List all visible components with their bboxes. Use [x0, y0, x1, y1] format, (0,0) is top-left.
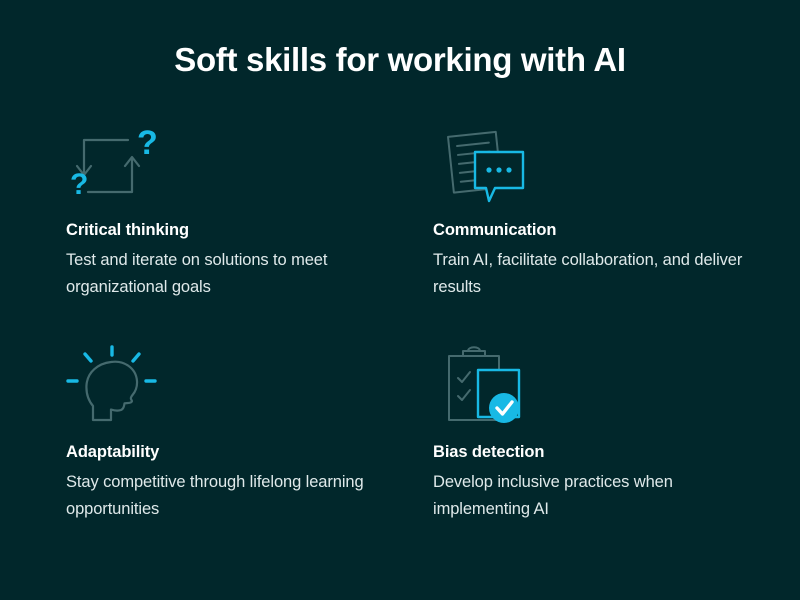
adaptability-icon: [66, 344, 176, 430]
typing-dot: [486, 167, 491, 172]
critical-thinking-icon: ? ?: [66, 122, 176, 208]
ray-upper-right: [133, 354, 139, 361]
skill-title: Communication: [433, 218, 766, 243]
skill-title: Critical thinking: [66, 218, 433, 243]
skill-description: Test and iterate on solutions to meet or…: [66, 247, 386, 301]
clipboard-check-2: [458, 390, 470, 400]
ray-upper-left: [85, 354, 91, 361]
skill-card-adaptability: Adaptability Stay competitive through li…: [66, 344, 433, 523]
skill-card-communication: Communication Train AI, facilitate colla…: [433, 122, 766, 301]
infographic-canvas: Soft skills for working with AI ? ? Crit…: [0, 0, 800, 600]
skill-description: Train AI, facilitate collaboration, and …: [433, 247, 753, 301]
skill-card-bias-detection: Bias detection Develop inclusive practic…: [433, 344, 766, 523]
clipboard-check-1: [458, 372, 470, 382]
skill-description: Stay competitive through lifelong learni…: [66, 469, 386, 523]
speech-bubble-shape: [475, 152, 523, 201]
head-profile-shape: [86, 361, 137, 419]
skills-grid: ? ? Critical thinking Test and iterate o…: [66, 122, 766, 523]
skill-description: Develop inclusive practices when impleme…: [433, 469, 753, 523]
skill-card-critical-thinking: ? ? Critical thinking Test and iterate o…: [66, 122, 433, 301]
question-mark-large: ?: [137, 124, 158, 162]
skill-title: Adaptability: [66, 440, 433, 465]
page-title: Soft skills for working with AI: [0, 40, 800, 80]
typing-dot: [496, 167, 501, 172]
bias-detection-icon: [433, 344, 543, 430]
verified-circle: [489, 393, 519, 423]
skill-title: Bias detection: [433, 440, 766, 465]
typing-dot: [506, 167, 511, 172]
question-mark-small: ?: [70, 168, 88, 201]
communication-icon: [433, 122, 543, 208]
